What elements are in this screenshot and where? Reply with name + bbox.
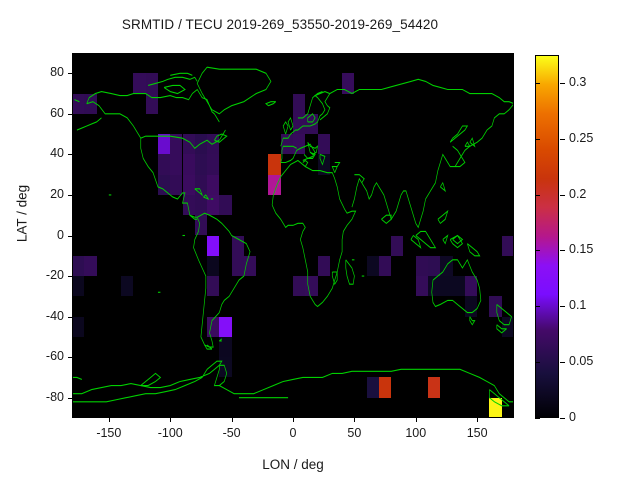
x-axis-tick-label: -150 <box>79 427 139 440</box>
heatmap-cell <box>158 134 170 154</box>
heatmap-cell <box>293 94 305 114</box>
x-axis-tick-label: 150 <box>447 427 507 440</box>
heatmap-cell <box>428 377 440 397</box>
heatmap-cell <box>219 195 231 215</box>
y-axis-tick-label: -20 <box>24 269 64 282</box>
x-axis-tick-label: 100 <box>386 427 446 440</box>
heatmap-cell <box>146 73 158 93</box>
colorbar-tick-mark <box>560 83 565 84</box>
heatmap-cell <box>379 377 391 397</box>
heatmap-cell <box>281 134 293 154</box>
heatmap-cell <box>489 296 501 316</box>
colorbar-tick-mark <box>560 139 565 140</box>
heatmap-cell <box>293 114 305 134</box>
heatmap-cell <box>170 175 182 195</box>
colorbar-tick-mark-inner <box>535 139 540 140</box>
colorbar-tick-label: 0.2 <box>569 188 586 201</box>
heatmap-cell <box>146 94 158 114</box>
heatmap-cell <box>416 276 428 296</box>
colorbar-tick-mark <box>560 418 565 419</box>
colorbar[interactable] <box>535 55 559 418</box>
x-axis-tick-mark <box>170 418 171 422</box>
heatmap-cell <box>195 154 207 174</box>
y-axis-tick-mark <box>68 317 72 318</box>
heatmap-cell <box>170 154 182 174</box>
heatmap-cell <box>195 195 207 215</box>
heatmap-cell <box>367 256 379 276</box>
heatmap-cell <box>170 134 182 154</box>
heatmap-cell <box>207 236 219 256</box>
heatmap-cell <box>293 276 305 296</box>
heatmap-cell <box>207 175 219 195</box>
heatmap-cell <box>440 256 452 276</box>
heatmap-cell-layer <box>72 53 514 418</box>
heatmap-cell <box>207 154 219 174</box>
page-title: SRMTID / TECU 2019-269_53550-2019-269_54… <box>0 17 560 32</box>
y-axis-tick-mark <box>68 276 72 277</box>
heatmap-cell <box>219 357 231 377</box>
colorbar-tick-label: 0.05 <box>569 355 593 368</box>
x-axis-tick-label: 0 <box>263 427 323 440</box>
heatmap-cell <box>72 256 84 276</box>
heatmap-cell <box>219 337 231 357</box>
heatmap-cell <box>121 276 133 296</box>
y-axis-tick-mark <box>68 195 72 196</box>
heatmap-cell <box>379 256 391 276</box>
heatmap-cell <box>219 317 231 337</box>
y-axis-tick-label: -60 <box>24 350 64 363</box>
y-axis-tick-label: 40 <box>24 147 64 160</box>
colorbar-tick-mark <box>560 306 565 307</box>
heatmap-cell <box>428 256 440 276</box>
heatmap-cell <box>183 175 195 195</box>
x-axis-tick-label: -100 <box>140 427 200 440</box>
colorbar-tick-mark-inner <box>535 195 540 196</box>
heatmap-cell <box>195 175 207 195</box>
x-axis-tick-mark <box>109 418 110 422</box>
heatmap-cell <box>133 73 145 93</box>
y-axis-tick-mark <box>68 398 72 399</box>
heatmap-cell <box>416 256 428 276</box>
heatmap-cell <box>195 134 207 154</box>
colorbar-tick-mark-inner <box>535 83 540 84</box>
map-plot-area[interactable] <box>72 53 514 418</box>
heatmap-cell <box>84 94 96 114</box>
heatmap-cell <box>318 154 330 174</box>
x-axis-tick-label: 50 <box>324 427 384 440</box>
y-axis-tick-mark <box>68 154 72 155</box>
x-axis-tick-mark <box>416 418 417 422</box>
heatmap-cell <box>158 154 170 174</box>
x-axis-tick-mark <box>354 418 355 422</box>
heatmap-cell <box>244 256 256 276</box>
colorbar-tick-label: 0.1 <box>569 299 586 312</box>
heatmap-cell <box>183 195 195 215</box>
heatmap-cell <box>428 276 440 296</box>
colorbar-tick-mark-inner <box>535 362 540 363</box>
y-axis-tick-label: 20 <box>24 188 64 201</box>
heatmap-cell <box>268 154 280 174</box>
x-axis-label: LON / deg <box>72 457 514 472</box>
heatmap-cell <box>207 134 219 154</box>
colorbar-tick-label: 0.25 <box>569 132 593 145</box>
y-axis-tick-label: 0 <box>24 229 64 242</box>
y-axis-tick-label: -40 <box>24 310 64 323</box>
heatmap-cell <box>207 195 219 215</box>
y-axis-label: LAT / deg <box>15 164 30 264</box>
heatmap-cell <box>502 317 514 337</box>
heatmap-cell <box>465 276 477 296</box>
heatmap-cell <box>195 215 207 235</box>
heatmap-cell <box>207 276 219 296</box>
colorbar-tick-mark <box>560 195 565 196</box>
y-axis-tick-label: -80 <box>24 391 64 404</box>
heatmap-cell <box>367 377 379 397</box>
heatmap-cell <box>232 236 244 256</box>
x-axis-tick-mark <box>232 418 233 422</box>
heatmap-cell <box>391 236 403 256</box>
heatmap-cell <box>183 134 195 154</box>
x-axis-tick-label: -50 <box>202 427 262 440</box>
y-axis-tick-mark <box>68 73 72 74</box>
heatmap-cell <box>305 276 317 296</box>
heatmap-cell <box>232 256 244 276</box>
colorbar-tick-label: 0 <box>569 411 576 424</box>
heatmap-cell <box>183 154 195 174</box>
y-axis-tick-mark <box>68 236 72 237</box>
heatmap-cell <box>318 134 330 154</box>
colorbar-tick-mark-inner <box>535 250 540 251</box>
colorbar-tick-label: 0.15 <box>569 243 593 256</box>
heatmap-cell <box>72 317 84 337</box>
y-axis-tick-mark <box>68 114 72 115</box>
heatmap-cell <box>489 398 501 418</box>
heatmap-cell <box>342 73 354 93</box>
y-axis-tick-label: 80 <box>24 66 64 79</box>
heatmap-cell <box>158 175 170 195</box>
heatmap-cell <box>318 256 330 276</box>
heatmap-cell <box>72 94 84 114</box>
heatmap-cell <box>502 236 514 256</box>
colorbar-tick-label: 0.3 <box>569 76 586 89</box>
figure-canvas: SRMTID / TECU 2019-269_53550-2019-269_54… <box>0 0 640 480</box>
heatmap-cell <box>207 256 219 276</box>
y-axis-tick-mark <box>68 357 72 358</box>
heatmap-cell <box>72 276 84 296</box>
heatmap-cell <box>268 175 280 195</box>
heatmap-cell <box>293 134 305 154</box>
heatmap-cell <box>207 317 219 337</box>
x-axis-tick-mark <box>293 418 294 422</box>
colorbar-tick-mark <box>560 250 565 251</box>
x-axis-tick-mark <box>477 418 478 422</box>
heatmap-cell <box>305 114 317 134</box>
heatmap-cell <box>440 276 452 296</box>
heatmap-cell <box>453 276 465 296</box>
heatmap-cell <box>84 256 96 276</box>
colorbar-tick-mark-inner <box>535 418 540 419</box>
colorbar-tick-mark <box>560 362 565 363</box>
heatmap-cell <box>465 296 477 316</box>
y-axis-tick-label: 60 <box>24 107 64 120</box>
colorbar-tick-mark-inner <box>535 306 540 307</box>
